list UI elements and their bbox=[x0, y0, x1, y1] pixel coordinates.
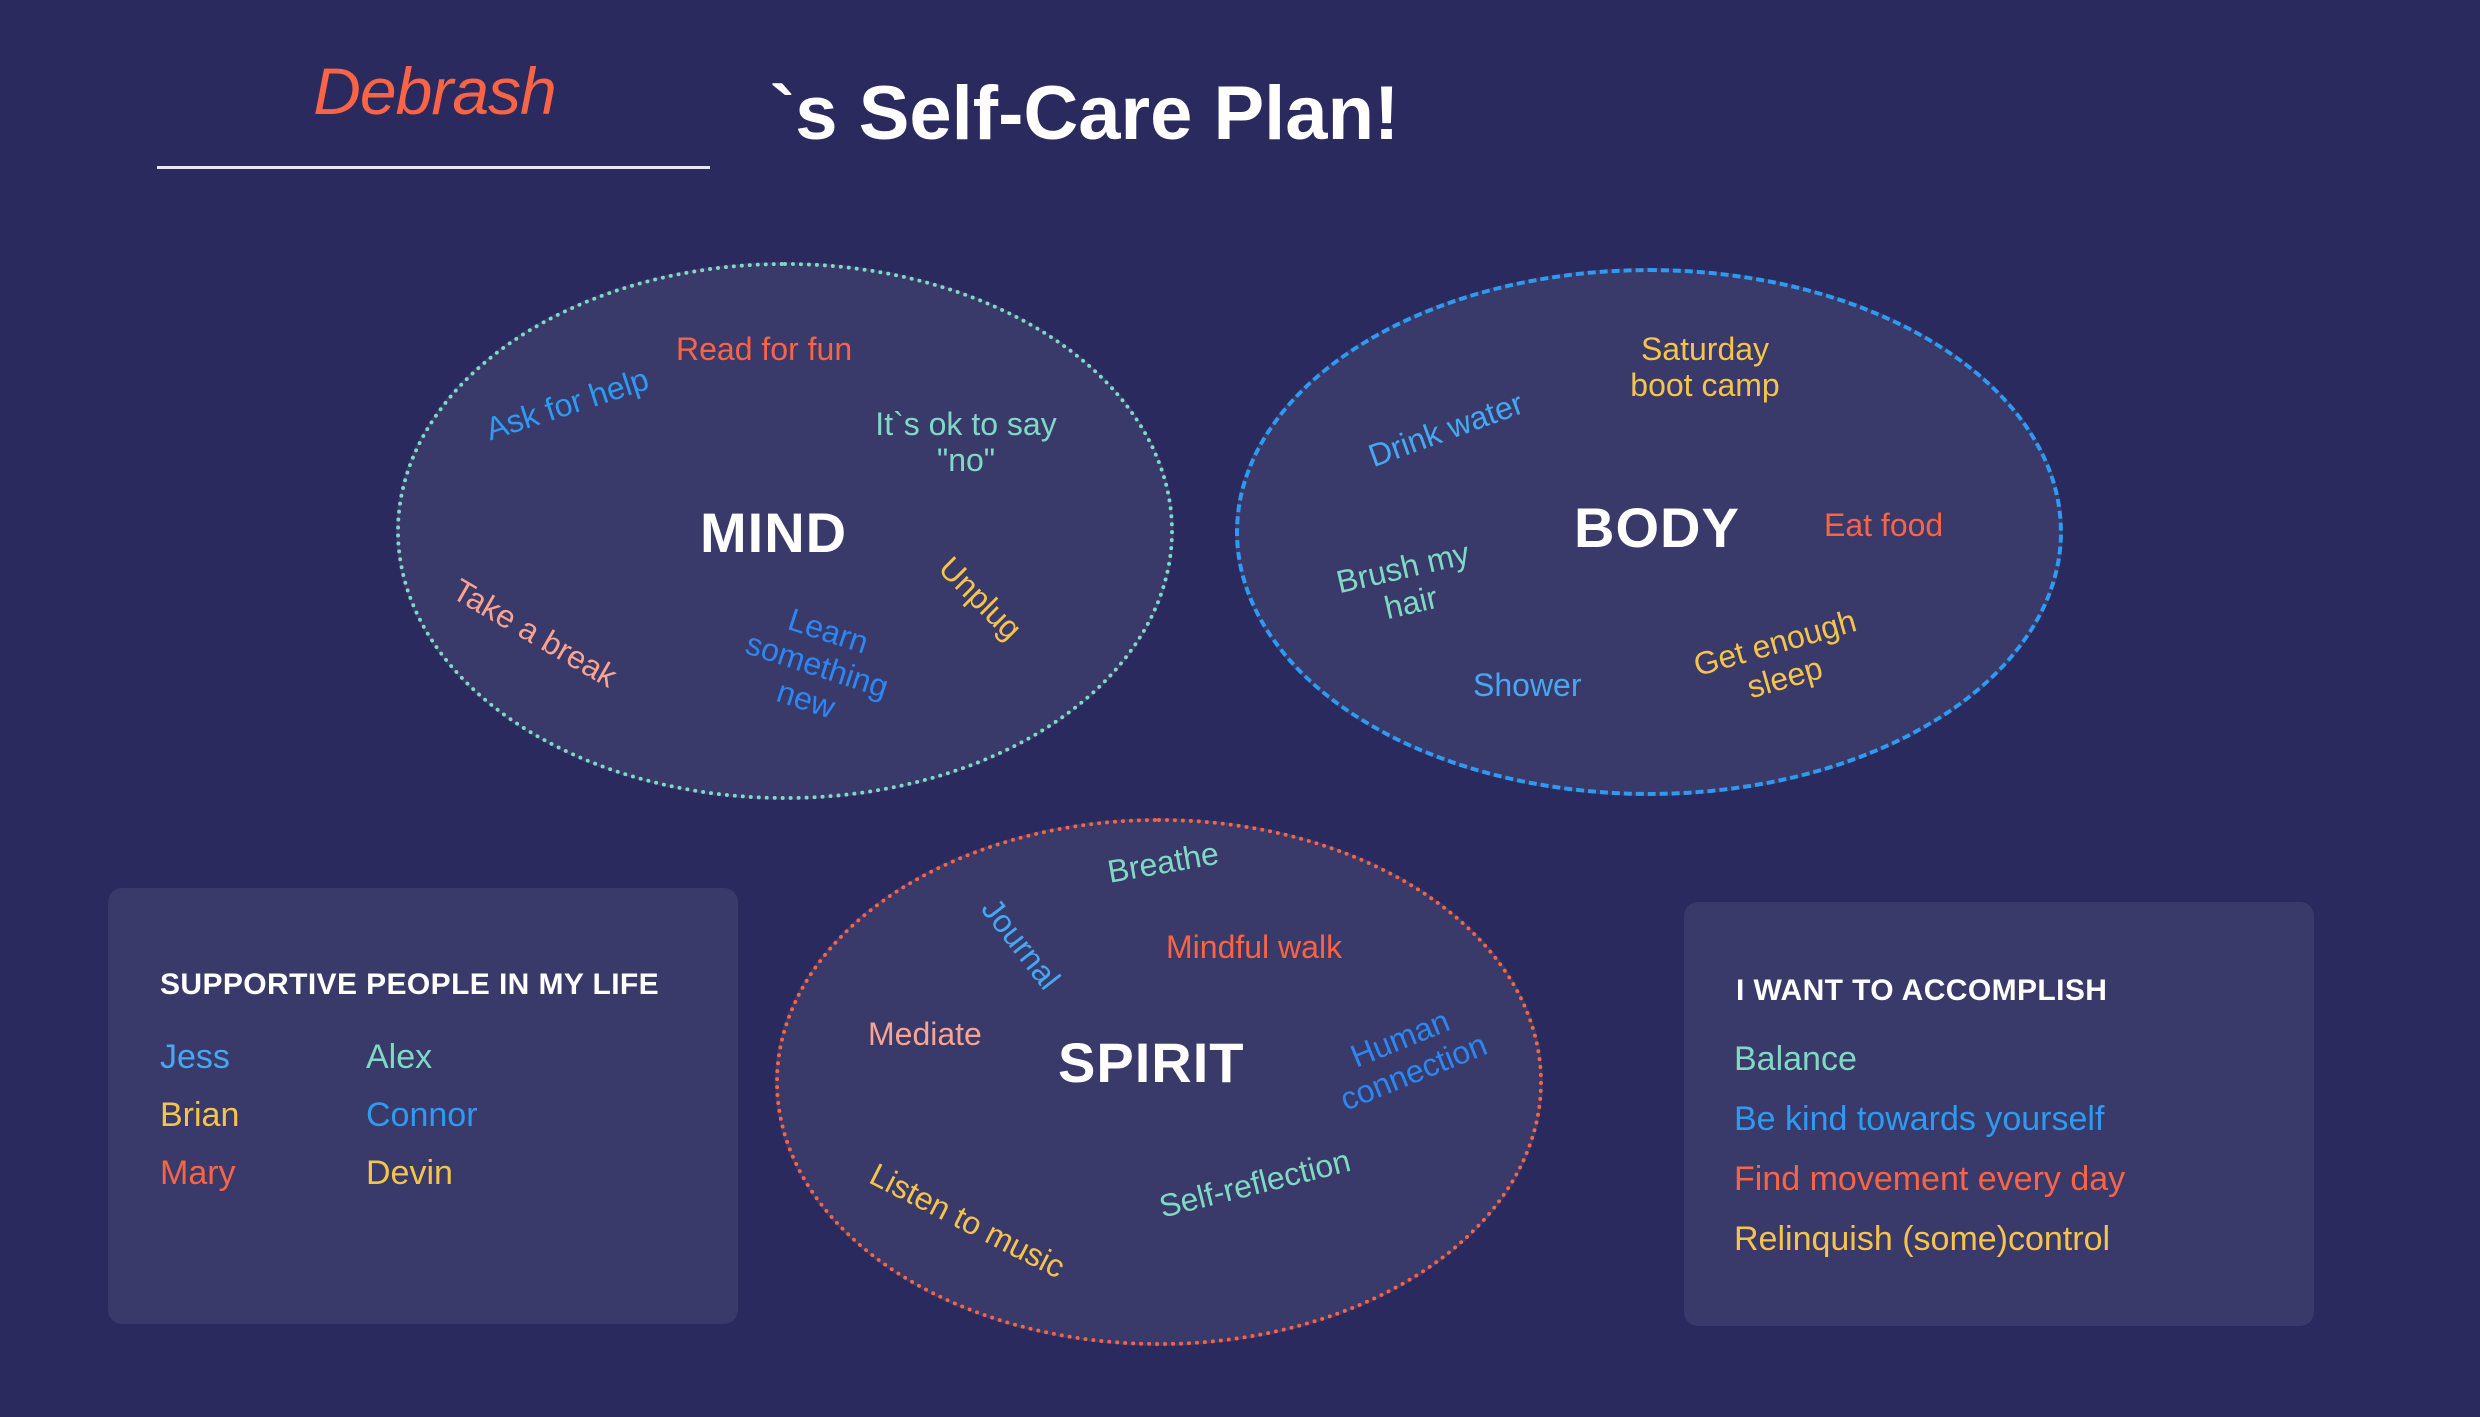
body-item-shower[interactable]: Shower bbox=[1473, 668, 1582, 704]
owner-name-field[interactable]: Debrash bbox=[157, 58, 712, 124]
bubble-label-mind: MIND bbox=[700, 500, 847, 565]
mind-item-its-ok-to-say-no[interactable]: It`s ok to say"no" bbox=[856, 407, 1076, 479]
body-item-saturday-line1: Saturday bbox=[1641, 331, 1769, 367]
mind-item-its-ok-to-say-no-line1: It`s ok to say bbox=[875, 406, 1056, 442]
header: Debrash `s Self-Care Plan! bbox=[0, 0, 2480, 200]
supportive-people-column-1: Jess Brian Mary bbox=[160, 1040, 239, 1190]
person-jess[interactable]: Jess bbox=[160, 1040, 239, 1074]
owner-name-underline bbox=[157, 166, 710, 169]
person-alex[interactable]: Alex bbox=[366, 1040, 478, 1074]
body-item-saturday-line2: boot camp bbox=[1630, 367, 1779, 403]
goal-relinquish[interactable]: Relinquish (some)control bbox=[1734, 1222, 2125, 1256]
person-devin[interactable]: Devin bbox=[366, 1156, 478, 1190]
accomplish-panel: I WANT TO ACCOMPLISH Balance Be kind tow… bbox=[1684, 902, 2314, 1326]
mind-item-read-for-fun[interactable]: Read for fun bbox=[676, 332, 852, 368]
body-item-saturday-boot-camp[interactable]: Saturdayboot camp bbox=[1590, 332, 1820, 404]
accomplish-title: I WANT TO ACCOMPLISH bbox=[1736, 974, 2107, 1008]
supportive-people-panel: SUPPORTIVE PEOPLE IN MY LIFE Jess Brian … bbox=[108, 888, 738, 1324]
goal-balance[interactable]: Balance bbox=[1734, 1042, 2125, 1076]
person-mary[interactable]: Mary bbox=[160, 1156, 239, 1190]
body-item-eat-food[interactable]: Eat food bbox=[1824, 508, 1943, 544]
accomplish-list: Balance Be kind towards yourself Find mo… bbox=[1734, 1042, 2125, 1256]
bubble-label-body: BODY bbox=[1574, 495, 1740, 560]
spirit-item-mediate[interactable]: Mediate bbox=[868, 1017, 982, 1053]
goal-find-movement[interactable]: Find movement every day bbox=[1734, 1162, 2125, 1196]
goal-be-kind[interactable]: Be kind towards yourself bbox=[1734, 1102, 2125, 1136]
owner-name: Debrash bbox=[313, 54, 555, 128]
self-care-plan-poster: Debrash `s Self-Care Plan! MIND Read for… bbox=[0, 0, 2480, 1417]
supportive-people-column-2: Alex Connor Devin bbox=[366, 1040, 478, 1190]
spirit-item-mindful-walk[interactable]: Mindful walk bbox=[1166, 930, 1342, 966]
mind-item-its-ok-to-say-no-line2: "no" bbox=[937, 442, 995, 478]
page-title: `s Self-Care Plan! bbox=[770, 70, 1399, 157]
bubble-label-spirit: SPIRIT bbox=[1058, 1030, 1244, 1095]
person-connor[interactable]: Connor bbox=[366, 1098, 478, 1132]
person-brian[interactable]: Brian bbox=[160, 1098, 239, 1132]
supportive-people-title: SUPPORTIVE PEOPLE IN MY LIFE bbox=[160, 968, 659, 1002]
